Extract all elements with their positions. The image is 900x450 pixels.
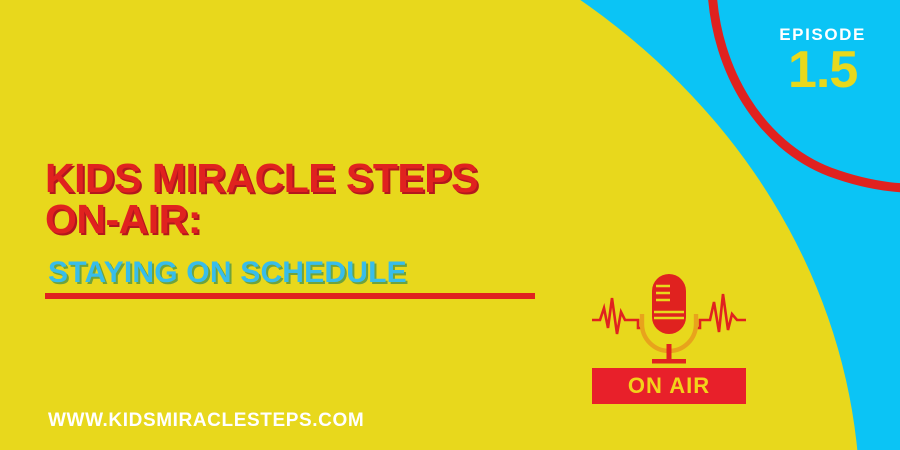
mic-base xyxy=(652,359,686,364)
waveform-left-icon xyxy=(592,298,644,334)
title-block: KIDS MIRACLE STEPS ON-AIR: STAYING ON SC… xyxy=(45,158,565,288)
mic-stem xyxy=(667,344,672,360)
episode-number: 1.5 xyxy=(779,46,866,95)
title-underline-rule xyxy=(45,293,535,299)
page-title-line-1: KIDS MIRACLE STEPS xyxy=(45,158,565,199)
on-air-label: ON AIR xyxy=(628,373,710,399)
on-air-badge: ON AIR xyxy=(592,368,746,404)
microphone-graphic xyxy=(592,272,746,367)
waveform-right-icon xyxy=(694,294,746,332)
page-title-line-2: ON-AIR: xyxy=(45,199,565,240)
banner-canvas: EPISODE 1.5 KIDS MIRACLE STEPS ON-AIR: S… xyxy=(0,0,900,450)
microphone-icon xyxy=(592,272,746,367)
site-url: WWW.KIDSMIRACLESTEPS.COM xyxy=(48,410,364,432)
page-subtitle: STAYING ON SCHEDULE xyxy=(48,258,565,288)
mic-capsule xyxy=(652,274,686,334)
episode-block: EPISODE 1.5 xyxy=(779,26,866,95)
